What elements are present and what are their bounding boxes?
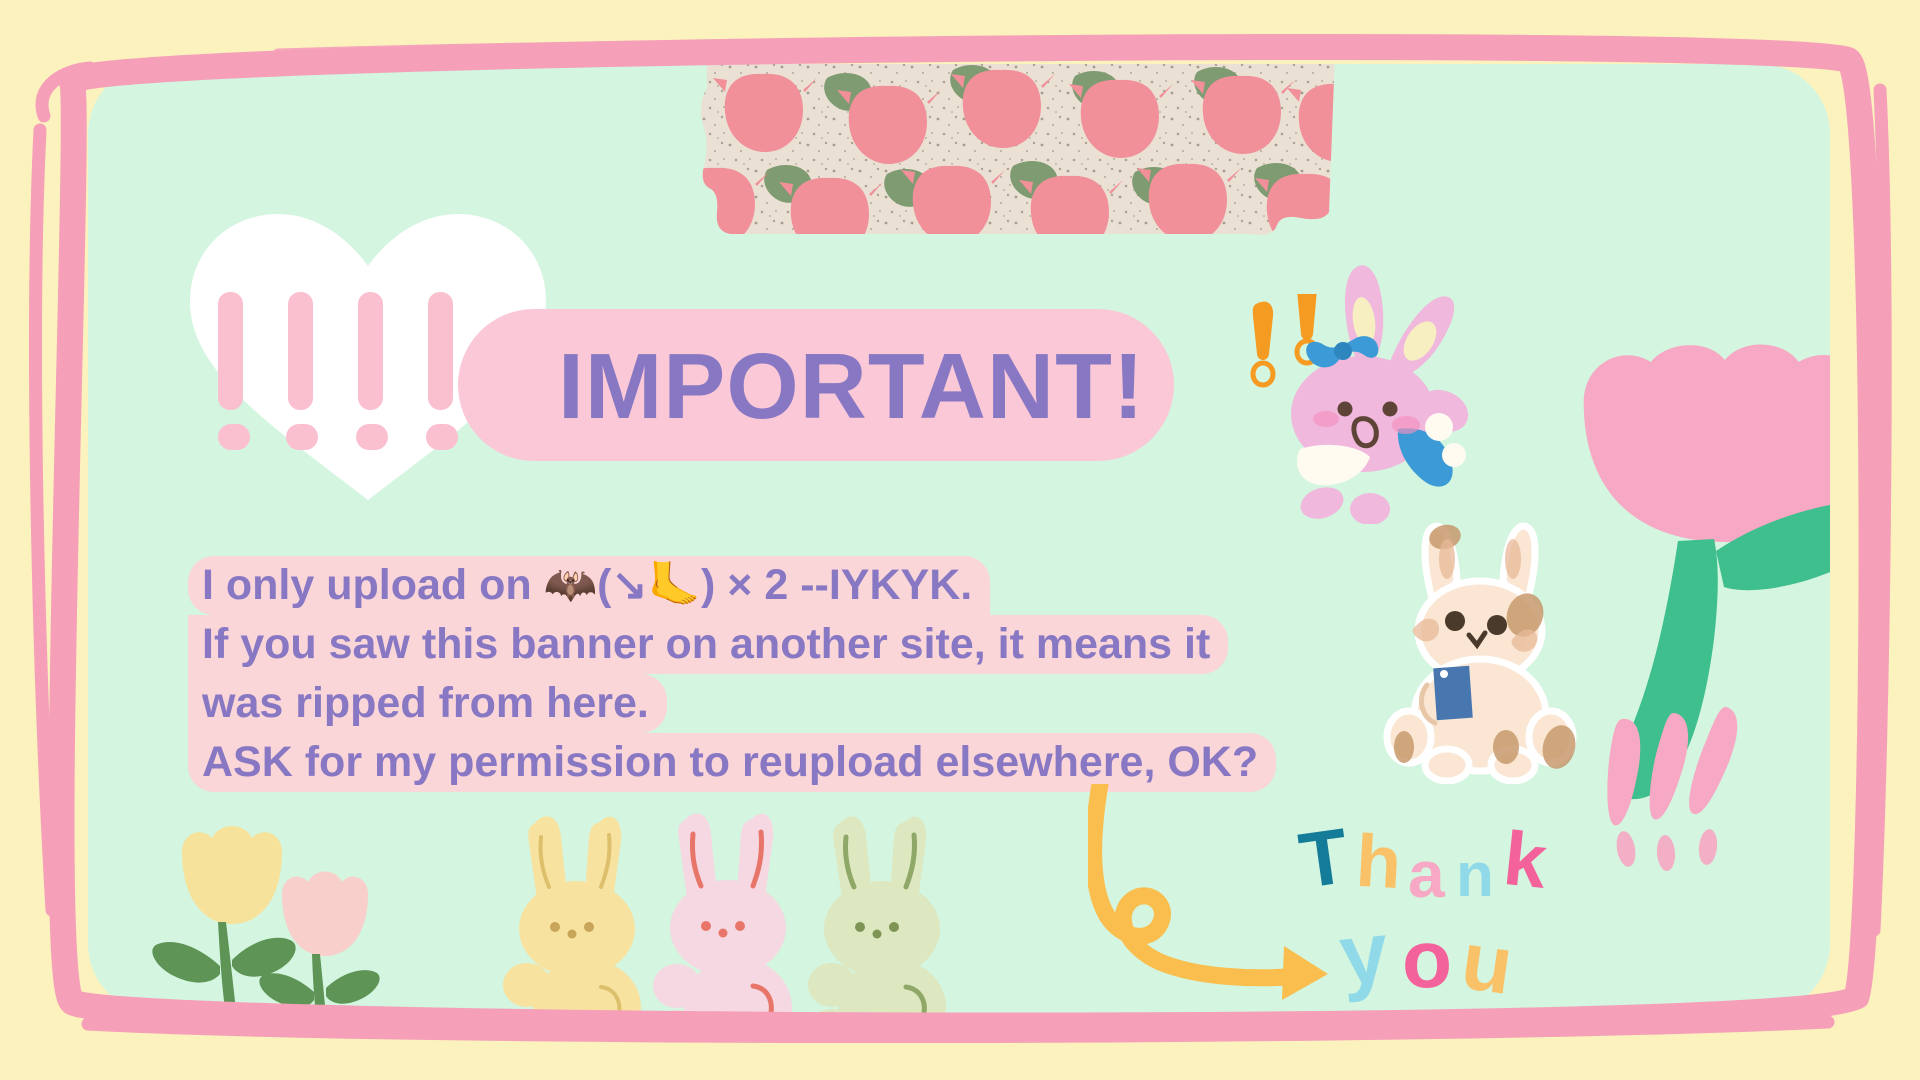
card-frame: IMPORTANT! I only upload on 🦇(↘🦶) × 2 --…: [28, 30, 1894, 1050]
banner-canvas: IMPORTANT! I only upload on 🦇(↘🦶) × 2 --…: [0, 0, 1920, 1080]
hand-drawn-frame: [28, 30, 1894, 1050]
